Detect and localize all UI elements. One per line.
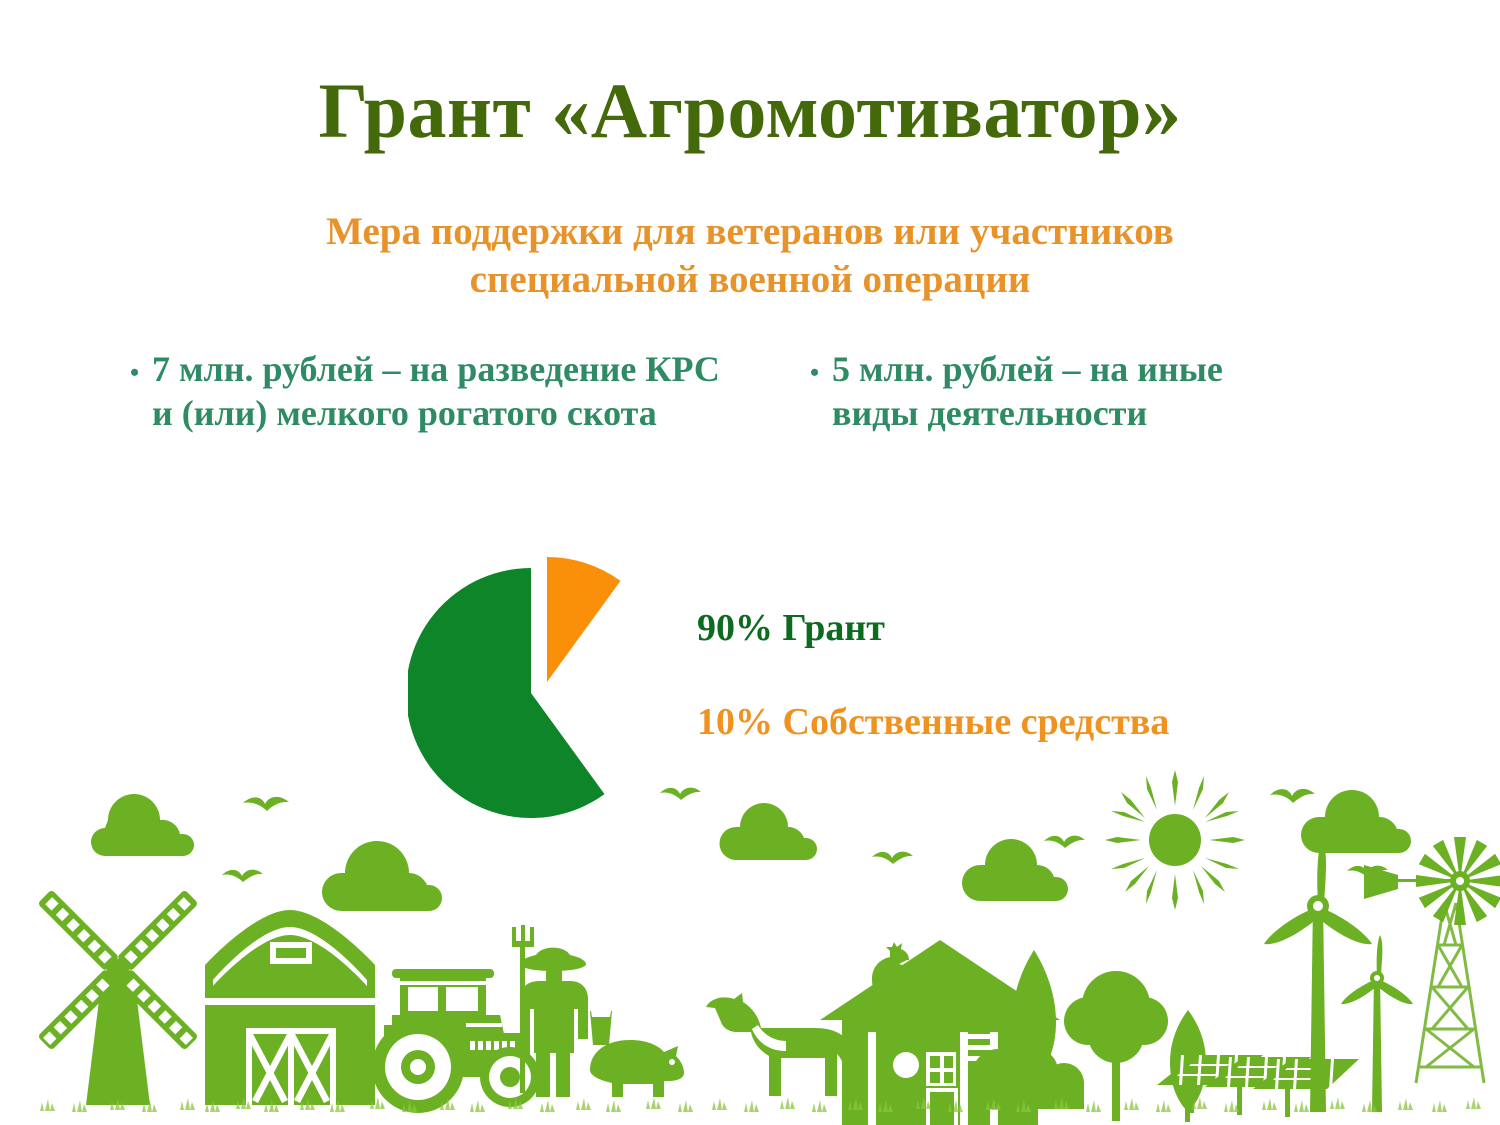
bullet-marker-icon: • bbox=[130, 360, 152, 386]
tractor-icon bbox=[372, 969, 540, 1113]
farm-scene-illustration bbox=[0, 765, 1500, 1125]
barn-icon bbox=[205, 910, 375, 1105]
horse-icon bbox=[706, 993, 859, 1096]
chart-legend: 90% Грант 10% Собственные средства bbox=[697, 608, 1337, 744]
cloud-icon bbox=[322, 841, 442, 911]
bird-icon bbox=[222, 870, 263, 882]
bird-icon bbox=[872, 852, 913, 864]
cloud-icon bbox=[720, 803, 817, 860]
pig-icon bbox=[590, 1040, 684, 1097]
bush-icon bbox=[972, 1041, 1084, 1109]
subtitle-line-2: специальной военной операции bbox=[250, 256, 1250, 304]
cloud-icon bbox=[962, 839, 1068, 901]
bullet-item-1: • 7 млн. рублей – на разведение КРС и (и… bbox=[130, 348, 730, 436]
bullet-item-2-label: 5 млн. рублей – на иные виды деятельност… bbox=[832, 348, 1280, 436]
cloud-icon bbox=[1301, 790, 1411, 853]
bullet-list: • 7 млн. рублей – на разведение КРС и (и… bbox=[0, 348, 1500, 508]
bullet-item-2: • 5 млн. рублей – на иные виды деятельно… bbox=[810, 348, 1280, 436]
wind-turbine-icon bbox=[1341, 935, 1413, 1112]
page-title: Грант «Агромотиватор» bbox=[0, 70, 1500, 152]
bird-icon bbox=[1044, 836, 1085, 848]
bird-icon bbox=[660, 788, 701, 800]
legend-item-grant: 90% Грант bbox=[697, 608, 1337, 650]
bullet-item-1-label: 7 млн. рублей – на разведение КРС и (или… bbox=[152, 348, 730, 436]
cloud-icon bbox=[91, 794, 194, 856]
sun-icon bbox=[1105, 770, 1245, 910]
subtitle-line-1: Мера поддержки для ветеранов или участни… bbox=[250, 208, 1250, 256]
bird-icon bbox=[1270, 789, 1315, 803]
bullet-marker-icon: • bbox=[810, 360, 832, 386]
slide-canvas: Грант «Агромотиватор» Мера поддержки для… bbox=[0, 0, 1500, 1125]
bird-icon bbox=[243, 797, 289, 811]
windpump-icon bbox=[1364, 837, 1500, 1083]
pie-slice-own-funds bbox=[547, 557, 621, 682]
page-subtitle: Мера поддержки для ветеранов или участни… bbox=[250, 208, 1250, 303]
legend-item-own-funds: 10% Собственные средства bbox=[697, 702, 1337, 744]
